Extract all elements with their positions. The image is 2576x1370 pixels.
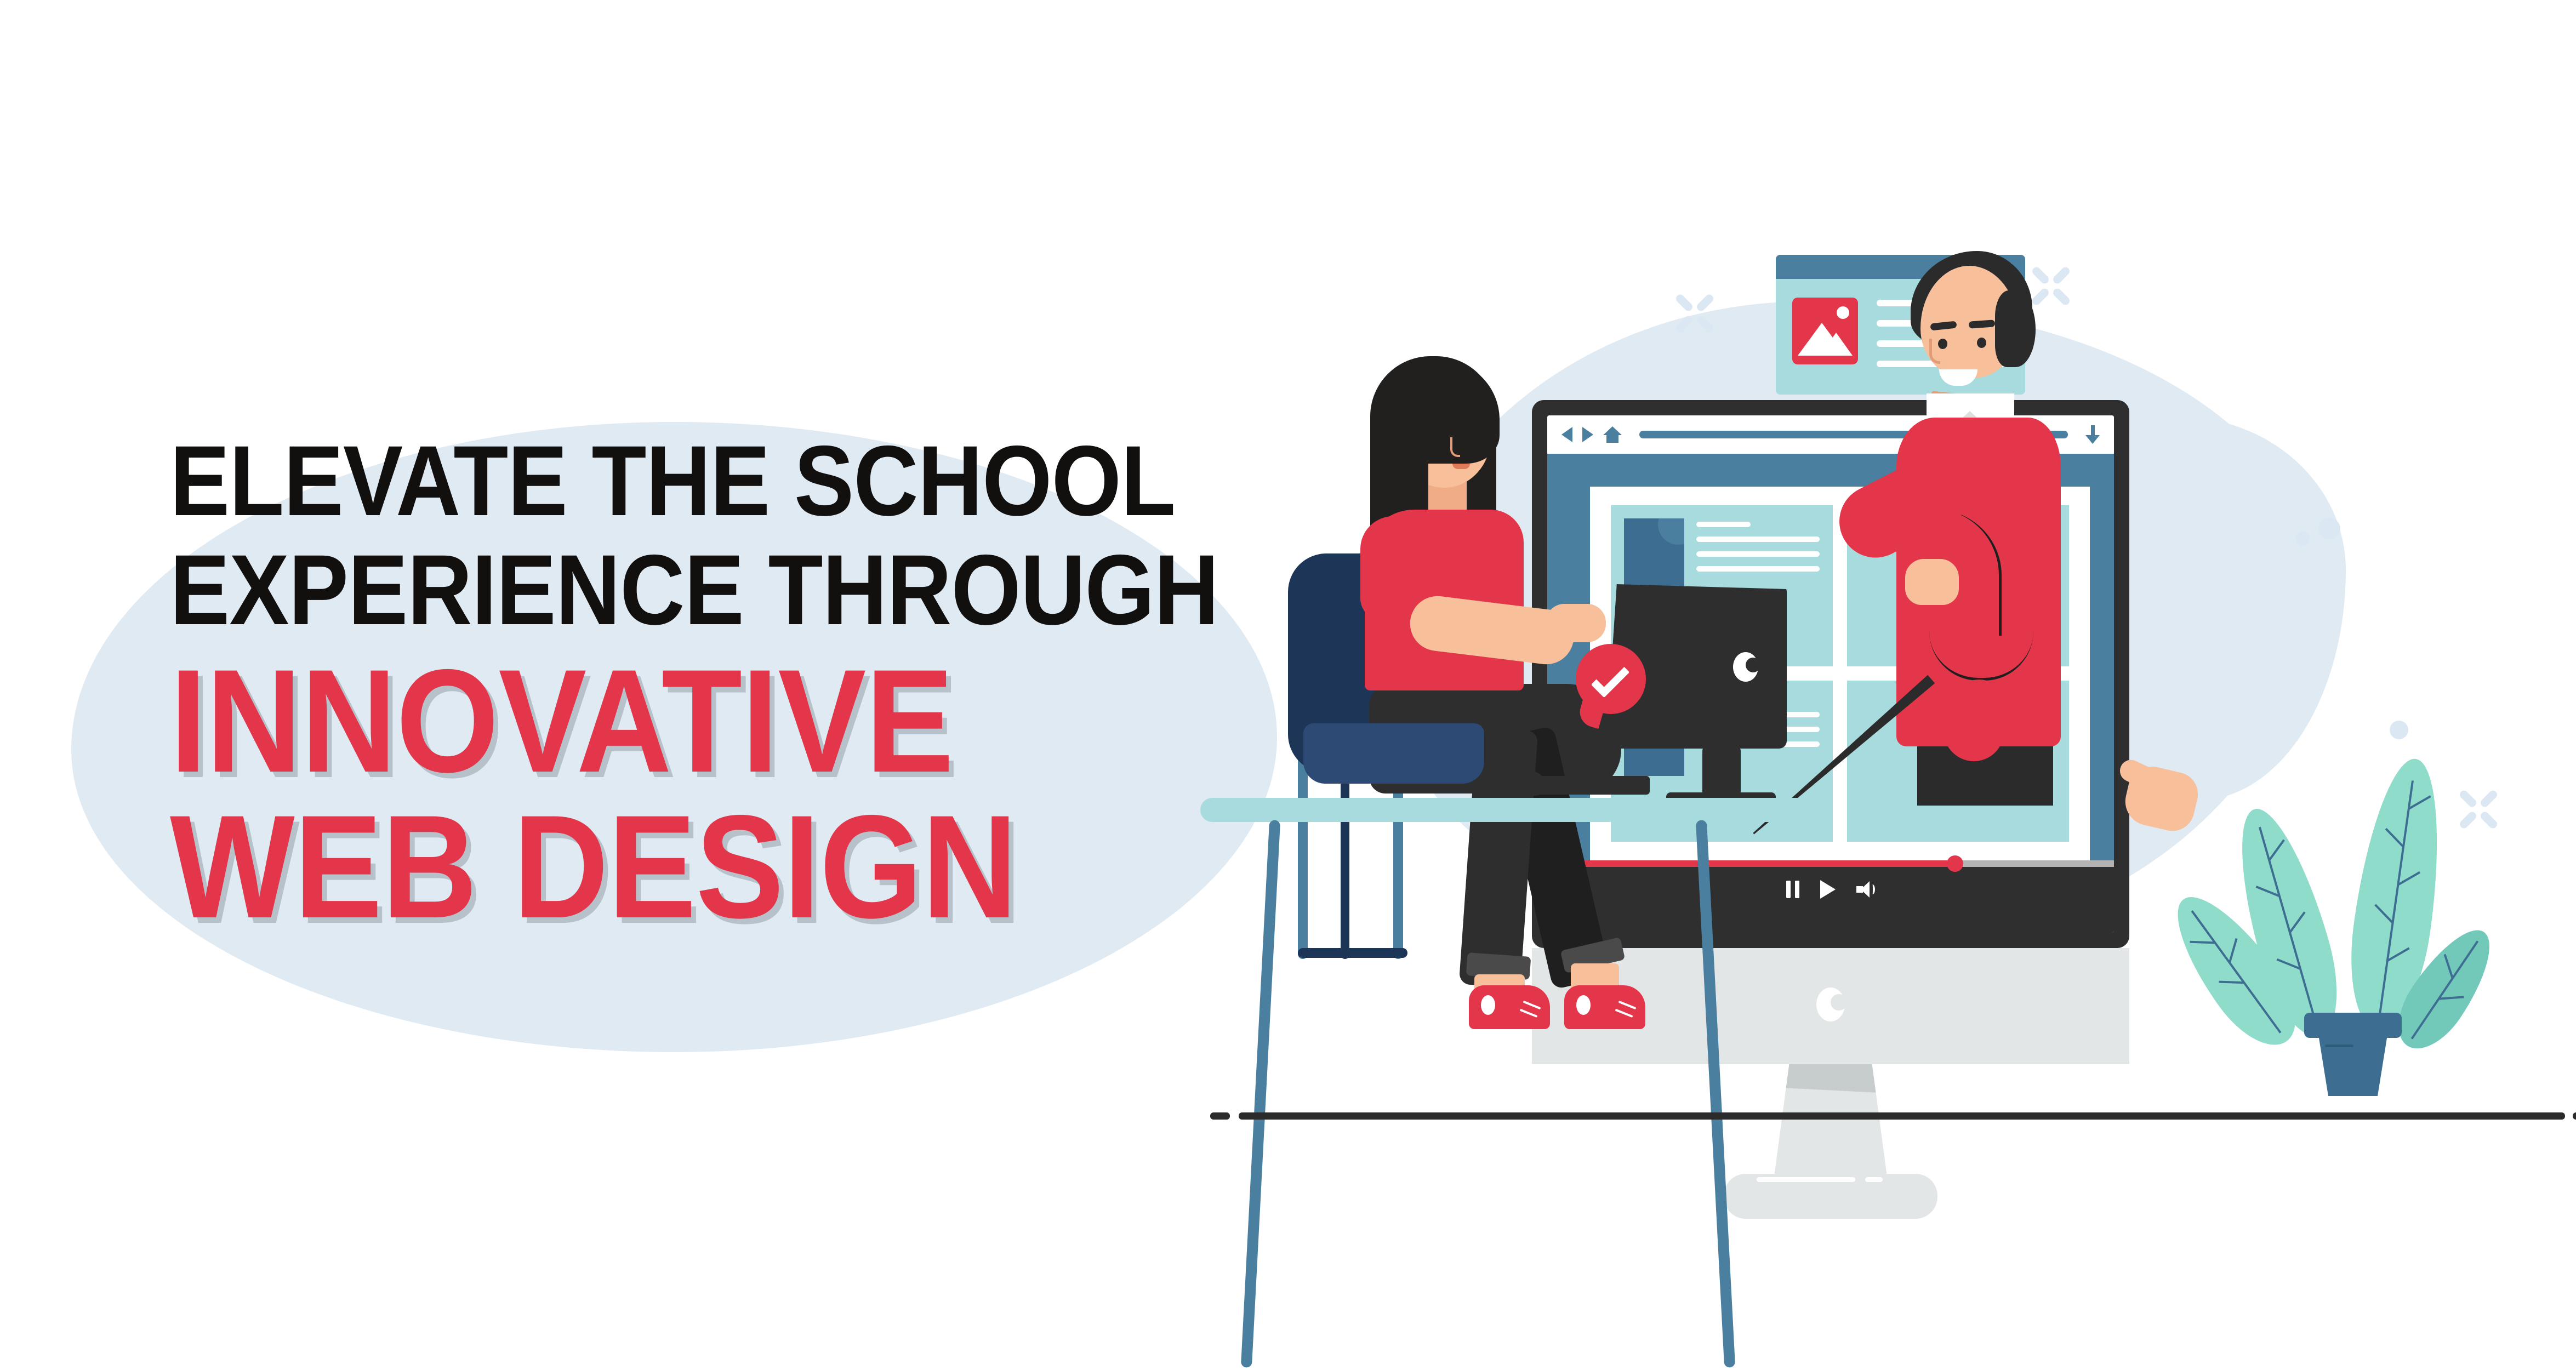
chair-seat [1303,723,1484,784]
desk-monitor-neck [1702,746,1741,796]
ground-line-dash [2573,1112,2576,1120]
banner-root: ELEVATE THE SCHOOL EXPERIENCE THROUGH IN… [0,0,2576,1370]
decor-dot [2295,532,2310,546]
tile-text-line [1696,566,1820,572]
woman-shoe [1564,985,1645,1029]
woman-eye [1437,433,1445,442]
desk-leg [1241,820,1280,1368]
video-progress-knob[interactable] [1947,855,1963,872]
potted-plant [2247,734,2455,1096]
tile-text-line [1696,551,1820,557]
woman-eye [1468,432,1475,441]
tile-text-line [1696,522,1751,527]
tile-text-line [1696,536,1820,542]
desk-top [1200,798,1814,822]
man-eye [1977,338,1986,348]
chair-rail [1298,948,1407,958]
monitor-stand-neck [1773,1064,1888,1185]
woman-nose [1450,437,1460,457]
headline-line-3: INNOVATIVE [170,650,1245,791]
sparkle-icon [2458,789,2499,830]
monitor-stand-base [1724,1174,1937,1219]
mouse[interactable] [1495,772,1546,796]
woman-mouth [1452,464,1470,469]
woman-shoe [1469,985,1550,1029]
plant-pot-rim [2304,1013,2402,1038]
headline-line-2: EXPERIENCE THROUGH [170,542,1245,638]
man-hair-side [1995,290,2036,367]
play-icon[interactable] [1820,880,1836,899]
crescent-moon-icon [1733,652,1758,682]
seated-woman-scene [1288,345,1672,948]
illustration [1233,181,2576,1167]
woman-sleeve [1360,516,1426,620]
headline-line-4: WEB DESIGN [170,796,1245,937]
plant-pot-marking [2325,1044,2353,1047]
decor-dot [2318,518,2340,540]
ground-line [1239,1112,2565,1120]
ground-line-dash [1210,1112,1230,1120]
volume-icon[interactable] [1856,881,1875,898]
headline-block: ELEVATE THE SCHOOL EXPERIENCE THROUGH IN… [170,433,1365,941]
woman-hand [1546,604,1606,642]
man-nose [1929,339,1940,364]
check-icon [1591,659,1630,698]
man-smile [1939,369,1977,386]
sparkle-icon [1674,293,1715,334]
headline-line-1: ELEVATE THE SCHOOL [170,433,1245,529]
crescent-moon-icon [1816,987,1845,1021]
approval-bubble [1576,644,1646,714]
pause-icon[interactable] [1786,881,1799,898]
presenter-man [1814,181,2121,795]
